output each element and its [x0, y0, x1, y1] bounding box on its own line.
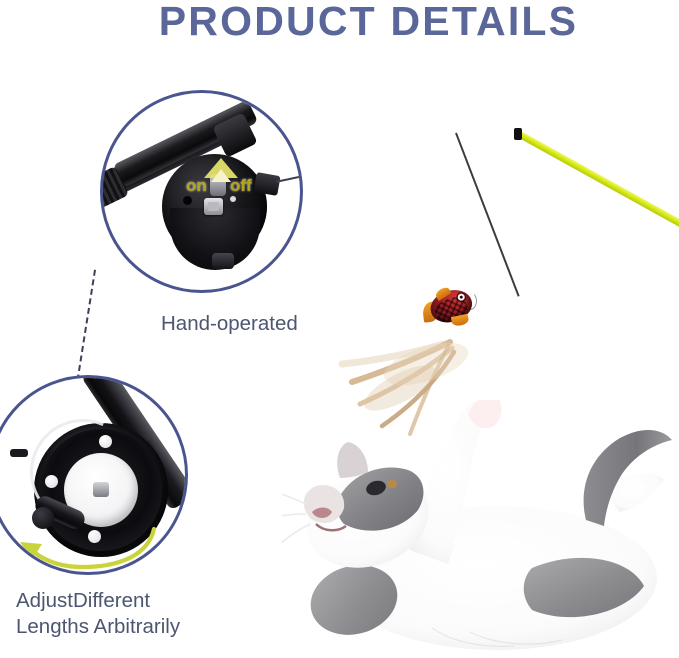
- callout-circle-hand-operated: on off: [100, 90, 303, 293]
- callout-connector-dashed-line: [77, 270, 98, 381]
- fishing-line: [455, 133, 519, 297]
- callout-2-caption: AdjustDifferent Lengths Arbitrarily: [16, 588, 180, 640]
- fishing-rod-tip: [514, 128, 522, 140]
- reel-bottom-foot: [212, 253, 234, 269]
- rotation-arrow-svg: [10, 515, 160, 575]
- reel-hanging-line: [103, 268, 115, 293]
- reel-screw-hole: [183, 196, 192, 205]
- rotation-arrow-icon: [10, 515, 160, 575]
- lure-ventral-fin: [451, 314, 470, 327]
- reel-thin-rod: [0, 409, 5, 454]
- reel-line-clip: [10, 449, 28, 457]
- product-details-image: PRODUCT DETAILS on off Hand-operated: [0, 0, 679, 658]
- reel-center-nut-inner: [208, 202, 219, 211]
- reel-side-tab: [253, 172, 280, 196]
- reel-stud-2: [45, 475, 58, 488]
- callout-1-content: on off: [100, 90, 303, 293]
- cat-eye-highlight: [387, 480, 397, 488]
- callout-circle-adjustable-length: [0, 375, 188, 575]
- cat-playing: [282, 400, 679, 658]
- switch-label-off: off: [230, 176, 252, 196]
- callout-2-content: [0, 375, 188, 575]
- fishing-rod: [516, 130, 679, 228]
- switch-label-on: on: [186, 176, 207, 196]
- cat-ear: [337, 442, 368, 478]
- reel-marker-dot: [230, 196, 236, 202]
- reel-stud-1: [99, 435, 112, 448]
- reel-lead-wire: [276, 171, 303, 183]
- up-arrow-inner-icon: [211, 169, 231, 182]
- reel-center-screw: [93, 482, 109, 497]
- callout-1-caption: Hand-operated: [161, 311, 298, 337]
- page-title: PRODUCT DETAILS: [0, 0, 679, 45]
